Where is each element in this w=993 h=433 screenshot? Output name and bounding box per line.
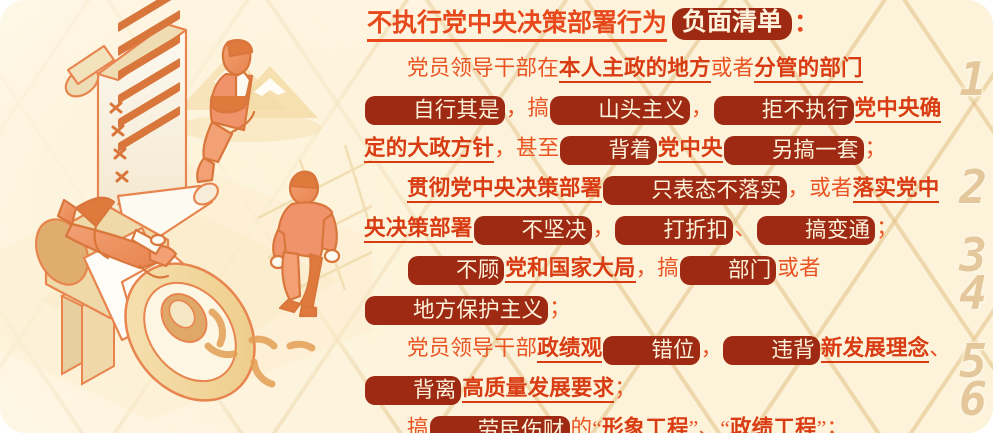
page-title-main: 不执行党中央决策部署行为 <box>367 10 667 42</box>
emphasis-pill: 不顾 <box>408 256 504 285</box>
page-title-colon: ： <box>794 10 819 37</box>
list-item: 贯彻党中央决策部署只表态不落实，或者落实党中央决策部署不坚决，打折扣、搞变通； <box>364 168 952 248</box>
illustration-megaphone-checklist <box>0 0 372 433</box>
body-text: 、 <box>734 216 756 240</box>
body-text: 党员领导干部在 <box>407 56 559 80</box>
body-text: ； <box>614 376 636 400</box>
body-text: ， <box>593 216 615 240</box>
emphasis-underline: 贯彻党中央决策部署 <box>407 176 602 203</box>
emphasis-underline: 新发展理念 <box>821 336 930 363</box>
body-text: 或者 <box>777 256 820 280</box>
body-text: 搞 <box>528 96 550 120</box>
emphasis-pill: 拒不执行 <box>714 96 854 125</box>
body-text: ； <box>876 216 898 240</box>
emphasis-pill: 搞变通 <box>757 216 875 245</box>
emphasis-pill: 地方保护主义 <box>365 296 548 325</box>
body-text: ，甚至 <box>494 136 559 160</box>
emphasis-underline: 分管的部门 <box>754 56 863 83</box>
page-title: 不执行党中央决策部署行为负面清单： <box>367 8 819 40</box>
emphasis-pill: 违背 <box>723 336 819 365</box>
emphasis-underline: 本人主政的地方 <box>559 56 711 83</box>
page-title-badge: 负面清单 <box>672 8 792 40</box>
emphasis-underline: 党和国家大局 <box>505 256 635 283</box>
emphasis-underline: 高质量发展要求 <box>462 376 614 403</box>
body-text: ，或者 <box>788 176 853 200</box>
body-text: ； <box>865 136 887 160</box>
body-text: 搞 <box>407 416 429 433</box>
body-text: ”； <box>817 416 848 433</box>
emphasis-pill: 自行其是 <box>365 96 505 125</box>
list-item: 搞劳民伤财的“形象工程”、“政绩工程”； <box>364 408 952 433</box>
list-item: 不顾党和国家大局，搞部门或者地方保护主义； <box>364 248 952 328</box>
emphasis-underline: 形象工程 <box>602 416 689 433</box>
emphasis-pill: 山头主义 <box>550 96 690 125</box>
body-text: ； <box>549 296 571 320</box>
body-text: ， <box>691 96 713 120</box>
body-text: ， <box>701 336 723 360</box>
emphasis-underline: 政绩观 <box>537 336 602 363</box>
body-text: ，搞 <box>636 256 679 280</box>
list-item: 党员领导干部在本人主政的地方或者分管的部门自行其是，搞山头主义，拒不执行党中央确… <box>364 48 952 168</box>
emphasis-pill: 劳民伤财 <box>430 416 570 433</box>
body-text: 的“ <box>571 416 602 433</box>
emphasis-pill: 背着 <box>560 136 656 165</box>
text-column: 不执行党中央决策部署行为负面清单： 党员领导干部在本人主政的地方或者分管的部门自… <box>364 0 964 433</box>
emphasis-pill: 不坚决 <box>474 216 592 245</box>
body-text: 或者 <box>711 56 754 80</box>
emphasis-underline: 党中央 <box>658 136 723 163</box>
emphasis-underline: 政绩工程 <box>730 416 817 433</box>
poster-root: 1 2 3 4 5 6 不执行党中央决策部署行为负面清单： 党员领导干部在本人主… <box>0 0 993 433</box>
body-text: 党员领导干部 <box>407 336 537 360</box>
negative-list-body: 党员领导干部在本人主政的地方或者分管的部门自行其是，搞山头主义，拒不执行党中央确… <box>364 48 952 433</box>
body-text: 、 <box>929 336 951 360</box>
emphasis-pill: 只表态不落实 <box>603 176 786 205</box>
emphasis-pill: 错位 <box>603 336 699 365</box>
emphasis-pill: 打折扣 <box>615 216 733 245</box>
emphasis-pill: 部门 <box>680 256 776 285</box>
list-item: 党员领导干部政绩观错位，违背新发展理念、背离高质量发展要求； <box>364 328 952 408</box>
body-text: ， <box>506 96 528 120</box>
body-text: ”、“ <box>689 416 730 433</box>
emphasis-pill: 背离 <box>365 376 461 405</box>
emphasis-pill: 另搞一套 <box>724 136 864 165</box>
person-sitting-arms-crossed <box>197 40 254 182</box>
